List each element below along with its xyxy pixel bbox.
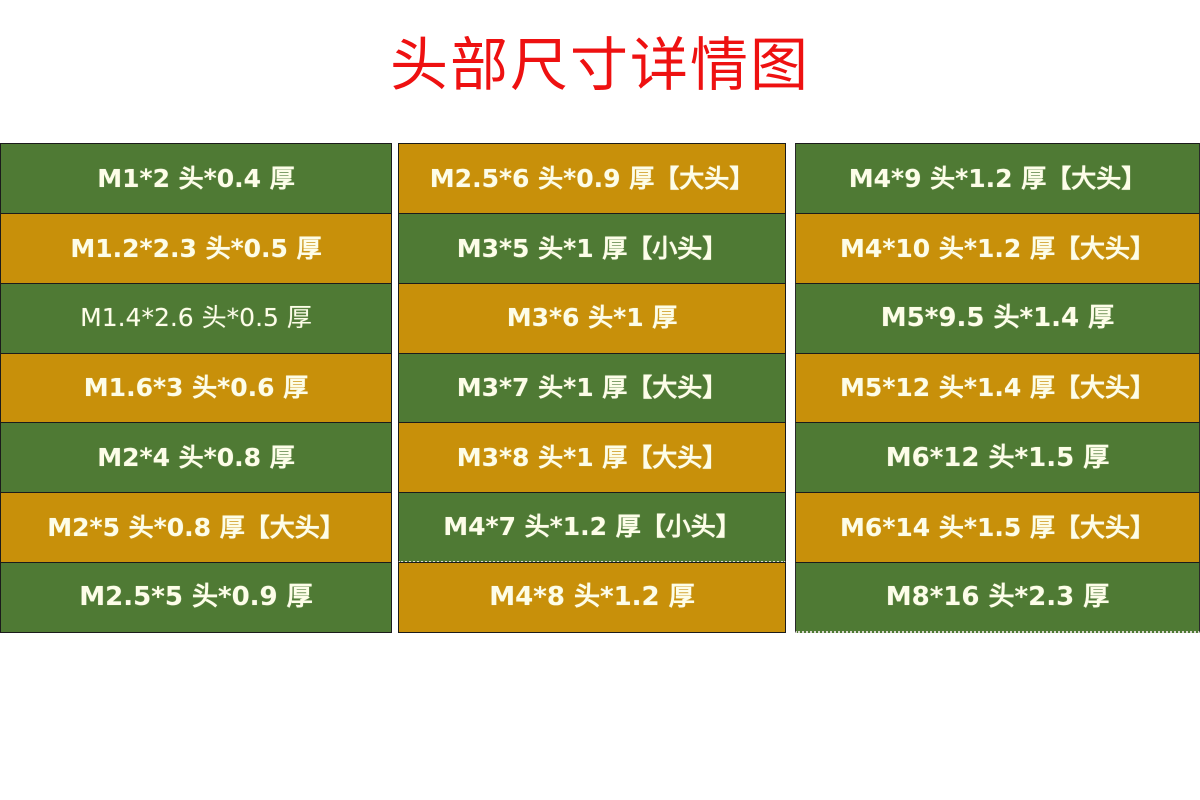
size-cell-label: M3*5 头*1 厚【小头】	[457, 235, 728, 263]
size-cell-label: M4*9 头*1.2 厚【大头】	[849, 165, 1147, 193]
size-cell[interactable]: M3*6 头*1 厚	[398, 283, 786, 354]
size-cell-label: M1.6*3 头*0.6 厚	[84, 374, 308, 402]
size-cell-label: M8*16 头*2.3 厚	[886, 583, 1110, 612]
size-cell[interactable]: M2*4 头*0.8 厚	[0, 422, 392, 493]
size-column-3: M4*9 头*1.2 厚【大头】 M4*10 头*1.2 厚【大头】 M5*9.…	[795, 143, 1200, 639]
size-cell[interactable]: M5*12 头*1.4 厚【大头】	[795, 353, 1200, 424]
size-cell[interactable]: M6*12 头*1.5 厚	[795, 422, 1200, 493]
size-cell[interactable]: M4*10 头*1.2 厚【大头】	[795, 213, 1200, 284]
size-cell[interactable]: M2*5 头*0.8 厚【大头】	[0, 492, 392, 563]
size-cell-label: M6*12 头*1.5 厚	[886, 444, 1110, 473]
size-cell[interactable]: M3*8 头*1 厚【大头】	[398, 422, 786, 493]
page-root: 头部尺寸详情图 M1*2 头*0.4 厚 M1.2*2.3 头*0.5 厚 M1…	[0, 0, 1200, 800]
size-column-2: M2.5*6 头*0.9 厚【大头】 M3*5 头*1 厚【小头】 M3*6 头…	[398, 143, 786, 639]
size-cell-label: M2*5 头*0.8 厚【大头】	[47, 514, 345, 542]
size-cell-label: M4*8 头*1.2 厚	[489, 583, 694, 612]
size-cell[interactable]: M6*14 头*1.5 厚【大头】	[795, 492, 1200, 563]
size-cell-label: M1.2*2.3 头*0.5 厚	[70, 235, 321, 263]
size-cell[interactable]: M4*8 头*1.2 厚	[398, 562, 786, 633]
size-cell-label: M3*7 头*1 厚【大头】	[457, 374, 728, 402]
size-cell-label: M2*4 头*0.8 厚	[97, 444, 295, 472]
size-cell[interactable]: M1.4*2.6 头*0.5 厚	[0, 283, 392, 354]
size-cell[interactable]: M3*7 头*1 厚【大头】	[398, 353, 786, 424]
page-title: 头部尺寸详情图	[390, 36, 810, 94]
size-cell[interactable]: M1*2 头*0.4 厚	[0, 143, 392, 214]
size-column-1: M1*2 头*0.4 厚 M1.2*2.3 头*0.5 厚 M1.4*2.6 头…	[0, 143, 392, 639]
size-cell-label: M1.4*2.6 头*0.5 厚	[80, 304, 312, 332]
column-gap	[786, 143, 795, 639]
size-cell-label: M2.5*5 头*0.9 厚	[79, 583, 312, 612]
size-cell[interactable]: M3*5 头*1 厚【小头】	[398, 213, 786, 284]
size-cell-label: M3*8 头*1 厚【大头】	[457, 444, 728, 472]
size-cell[interactable]: M5*9.5 头*1.4 厚	[795, 283, 1200, 354]
size-cell[interactable]: M1.6*3 头*0.6 厚	[0, 353, 392, 424]
size-cell[interactable]: M4*9 头*1.2 厚【大头】	[795, 143, 1200, 214]
size-cell-label: M1*2 头*0.4 厚	[97, 165, 295, 193]
size-cell-label: M5*12 头*1.4 厚【大头】	[840, 374, 1155, 402]
size-cell[interactable]: M2.5*6 头*0.9 厚【大头】	[398, 143, 786, 214]
title-bar: 头部尺寸详情图	[0, 22, 1200, 108]
size-cell[interactable]: M1.2*2.3 头*0.5 厚	[0, 213, 392, 284]
size-cell-label: M6*14 头*1.5 厚【大头】	[840, 514, 1155, 542]
size-cell[interactable]: M8*16 头*2.3 厚	[795, 562, 1200, 633]
size-cell-label: M4*10 头*1.2 厚【大头】	[840, 235, 1155, 263]
size-cell[interactable]: M2.5*5 头*0.9 厚	[0, 562, 392, 633]
size-cell-label: M2.5*6 头*0.9 厚【大头】	[430, 165, 754, 193]
size-table: M1*2 头*0.4 厚 M1.2*2.3 头*0.5 厚 M1.4*2.6 头…	[0, 143, 1200, 639]
size-cell[interactable]: M4*7 头*1.2 厚【小头】	[398, 492, 786, 563]
size-cell-label: M5*9.5 头*1.4 厚	[881, 304, 1114, 333]
size-cell-label: M4*7 头*1.2 厚【小头】	[443, 513, 741, 541]
size-cell-label: M3*6 头*1 厚	[507, 304, 678, 332]
